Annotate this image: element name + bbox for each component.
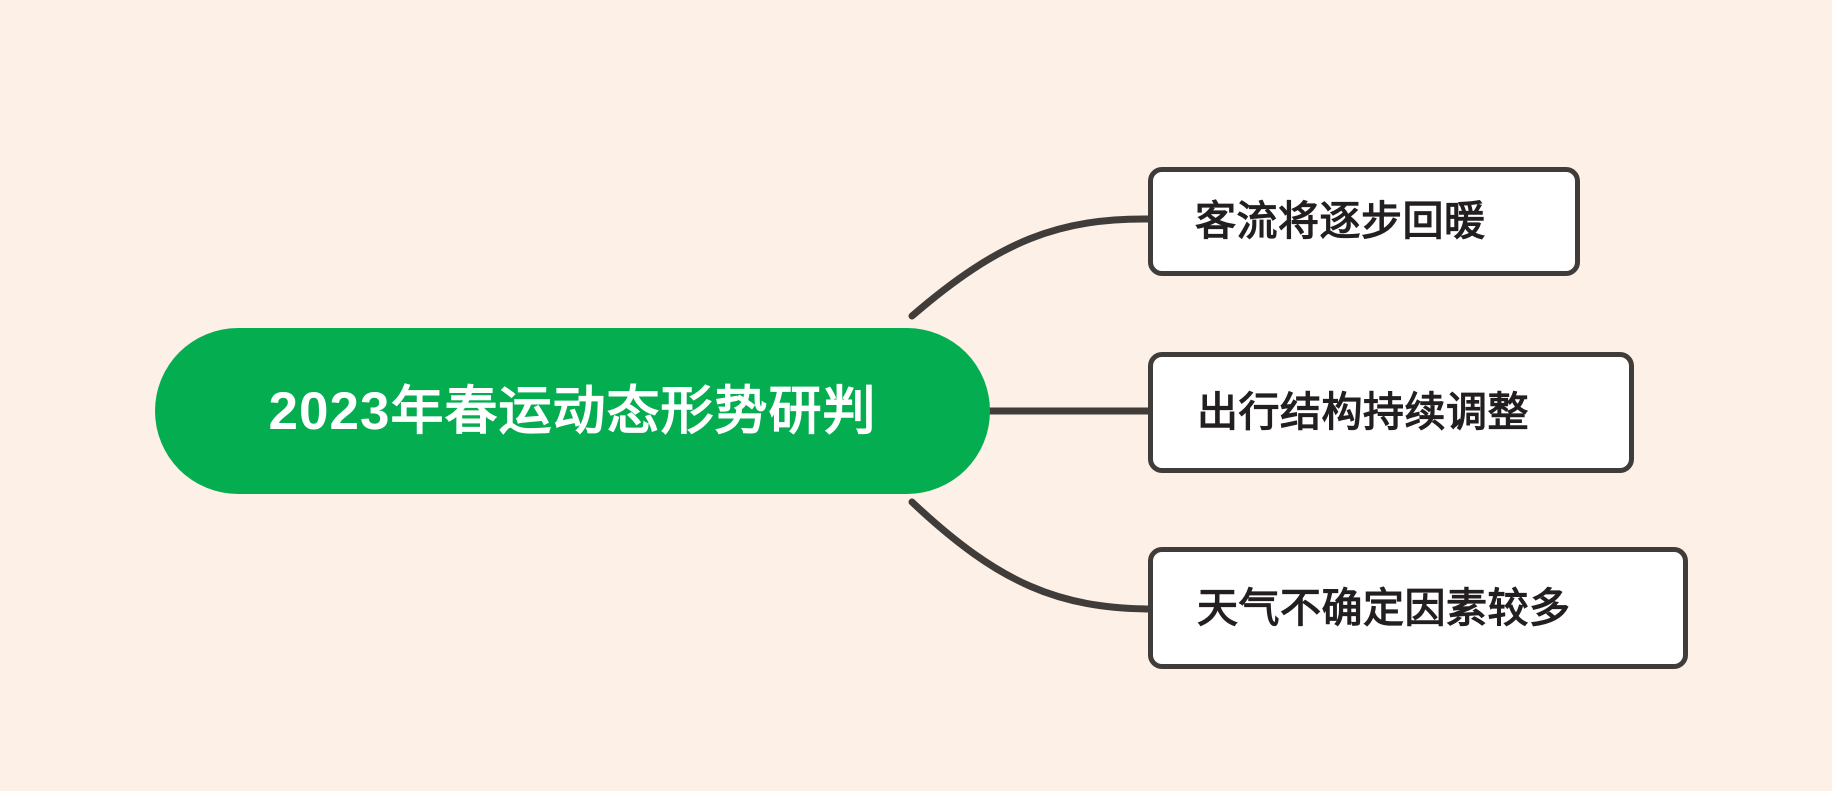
- mindmap-branch-label-2: 出行结构持续调整: [1153, 392, 1529, 433]
- mindmap-canvas: 2023年春运动态形势研判 客流将逐步回暖 出行结构持续调整 天气不确定因素较多: [0, 0, 1832, 791]
- mindmap-branch-node-3[interactable]: 天气不确定因素较多: [1148, 547, 1688, 669]
- mindmap-branch-node-2[interactable]: 出行结构持续调整: [1148, 352, 1634, 473]
- mindmap-branch-label-1: 客流将逐步回暖: [1153, 201, 1486, 242]
- mindmap-branch-label-3: 天气不确定因素较多: [1153, 588, 1571, 629]
- connector-root-to-branch-0: [912, 219, 1150, 316]
- connector-root-to-branch-2: [912, 502, 1150, 609]
- mindmap-root-label: 2023年春运动态形势研判: [269, 385, 877, 438]
- mindmap-root-node[interactable]: 2023年春运动态形势研判: [155, 328, 990, 494]
- mindmap-branch-node-1[interactable]: 客流将逐步回暖: [1148, 167, 1580, 276]
